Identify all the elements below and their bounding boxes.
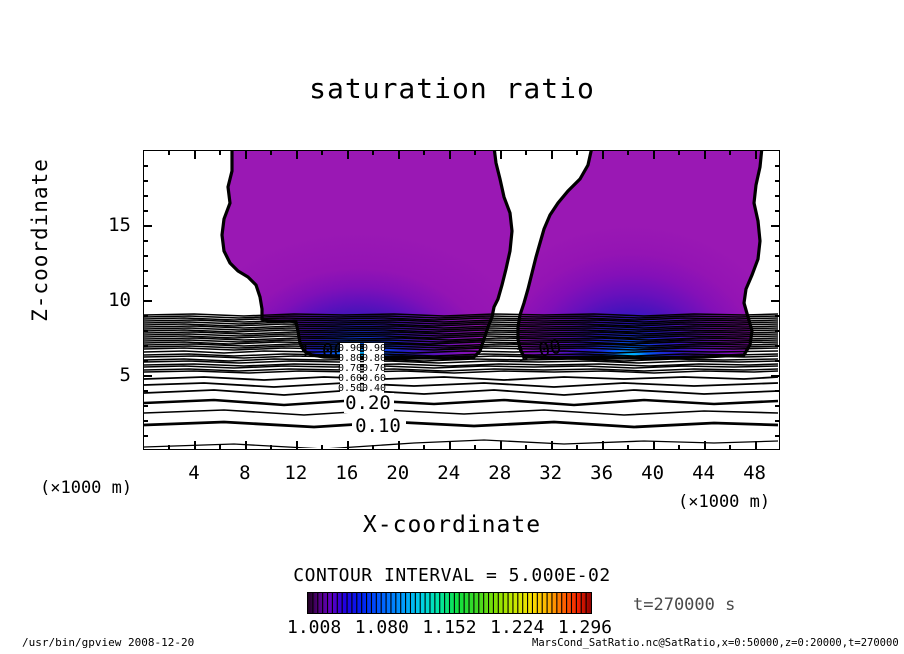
x-unit-left: (×1000 m)	[40, 478, 132, 498]
tick-mark	[771, 225, 780, 227]
x-tick-label-24: 24	[429, 462, 469, 484]
tick-mark	[219, 150, 221, 155]
tick-mark	[775, 360, 780, 362]
tick-mark	[678, 445, 680, 450]
contour-label-0.10: 0.10	[355, 415, 401, 437]
tick-mark	[775, 270, 780, 272]
tick-mark	[245, 441, 247, 450]
tick-mark	[347, 441, 349, 450]
tick-mark	[576, 445, 578, 450]
tick-mark	[627, 445, 629, 450]
tick-mark	[143, 255, 148, 257]
tick-mark	[245, 150, 247, 159]
tick-mark	[525, 150, 527, 155]
page-title: saturation ratio	[0, 72, 904, 105]
tick-mark	[143, 180, 148, 182]
x-tick-label-32: 32	[531, 462, 571, 484]
x-tick-label-16: 16	[327, 462, 367, 484]
y-tick-label-15: 15	[91, 214, 131, 236]
tick-mark	[372, 150, 374, 155]
tick-mark	[627, 150, 629, 155]
tick-mark	[576, 150, 578, 155]
x-tick-label-40: 40	[633, 462, 673, 484]
contour-plot-svg: 1.00 1.00 0.90 0.80 0.70 0.60 0.50 0.90 …	[144, 151, 778, 448]
tick-mark	[500, 441, 502, 450]
tick-mark	[771, 375, 780, 377]
colorbar-label-3: 1.224	[490, 617, 544, 638]
tick-mark	[143, 210, 148, 212]
tick-mark	[143, 270, 148, 272]
tick-mark	[525, 445, 527, 450]
tick-mark	[270, 150, 272, 155]
tick-mark	[653, 150, 655, 159]
tick-mark	[602, 150, 604, 159]
tick-mark	[775, 330, 780, 332]
tick-mark	[194, 441, 196, 450]
tick-mark	[143, 240, 148, 242]
colorbar[interactable]	[307, 592, 592, 614]
x-axis-label: X-coordinate	[0, 512, 904, 538]
tick-mark	[143, 345, 148, 347]
tick-mark	[168, 150, 170, 155]
tick-mark	[143, 360, 148, 362]
tick-mark	[775, 165, 780, 167]
tick-mark	[729, 445, 731, 450]
tick-mark	[551, 441, 553, 450]
tick-mark	[704, 150, 706, 159]
tick-mark	[296, 441, 298, 450]
tick-mark	[168, 445, 170, 450]
tick-mark	[775, 180, 780, 182]
footer-command: /usr/bin/gpview 2008-12-20	[22, 636, 194, 649]
tick-mark	[143, 420, 148, 422]
contour-label-0.20: 0.20	[345, 392, 391, 414]
tick-mark	[755, 441, 757, 450]
tick-mark	[423, 150, 425, 155]
tick-mark	[143, 195, 148, 197]
tick-mark	[449, 150, 451, 159]
tick-mark	[143, 315, 148, 317]
x-tick-label-28: 28	[480, 462, 520, 484]
tick-mark	[347, 150, 349, 159]
y-axis-label: Z-coordinate	[28, 140, 52, 340]
tick-mark	[321, 150, 323, 155]
x-tick-label-12: 12	[276, 462, 316, 484]
tick-mark	[143, 300, 152, 302]
tick-mark	[143, 285, 148, 287]
y-tick-label-10: 10	[91, 289, 131, 311]
tick-mark	[602, 441, 604, 450]
tick-mark	[775, 240, 780, 242]
colorbar-label-0: 1.008	[287, 617, 341, 638]
tick-mark	[219, 445, 221, 450]
contour-label-stack-a: 0.90 0.80 0.70 0.60 0.50	[338, 343, 362, 399]
tick-mark	[775, 195, 780, 197]
x-tick-label-8: 8	[225, 462, 265, 484]
tick-mark	[775, 390, 780, 392]
footer-dataset: MarsCond_SatRatio.nc@SatRatio,x=0:50000,…	[532, 637, 899, 649]
tick-mark	[143, 165, 148, 167]
tick-mark	[143, 330, 148, 332]
tick-mark	[143, 405, 148, 407]
contour-interval-text: CONTOUR INTERVAL = 5.000E-02	[0, 565, 904, 586]
tick-mark	[474, 150, 476, 155]
tick-mark	[194, 150, 196, 159]
tick-mark	[296, 150, 298, 159]
tick-mark	[775, 255, 780, 257]
tick-mark	[653, 441, 655, 450]
tick-mark	[500, 150, 502, 159]
tick-mark	[678, 150, 680, 155]
contour-plot-area: 1.00 1.00 0.90 0.80 0.70 0.60 0.50 0.90 …	[143, 150, 780, 450]
y-tick-label-5: 5	[91, 364, 131, 386]
x-tick-label-36: 36	[582, 462, 622, 484]
tick-mark	[321, 445, 323, 450]
colorbar-label-2: 1.152	[422, 617, 476, 638]
x-unit-right: (×1000 m)	[678, 492, 770, 512]
tick-mark	[143, 390, 148, 392]
tick-mark	[775, 435, 780, 437]
tick-mark	[474, 445, 476, 450]
tick-mark	[775, 210, 780, 212]
tick-mark	[551, 150, 553, 159]
tick-mark	[143, 375, 152, 377]
tick-mark	[755, 150, 757, 159]
colorbar-tick-labels: 1.008 1.080 1.152 1.224 1.296	[287, 617, 612, 638]
tick-mark	[771, 300, 780, 302]
tick-mark	[775, 420, 780, 422]
tick-mark	[729, 150, 731, 155]
tick-mark	[270, 445, 272, 450]
contour-label-stack-b: 0.90 0.80 0.70 0.60 0.40	[362, 343, 386, 399]
tick-mark	[775, 285, 780, 287]
tick-mark	[143, 225, 152, 227]
colorbar-svg	[308, 593, 591, 613]
colorbar-label-4: 1.296	[558, 617, 612, 638]
tick-mark	[449, 441, 451, 450]
x-tick-label-48: 48	[735, 462, 775, 484]
tick-mark	[775, 315, 780, 317]
tick-mark	[704, 441, 706, 450]
tick-mark	[398, 441, 400, 450]
x-tick-label-44: 44	[684, 462, 724, 484]
tick-mark	[143, 435, 148, 437]
x-tick-label-20: 20	[378, 462, 418, 484]
colorbar-label-1: 1.080	[355, 617, 409, 638]
tick-mark	[398, 150, 400, 159]
tick-mark	[372, 445, 374, 450]
time-annotation: t=270000 s	[633, 595, 735, 615]
tick-mark	[775, 405, 780, 407]
x-tick-label-4: 4	[174, 462, 214, 484]
tick-mark	[775, 345, 780, 347]
tick-mark	[423, 445, 425, 450]
